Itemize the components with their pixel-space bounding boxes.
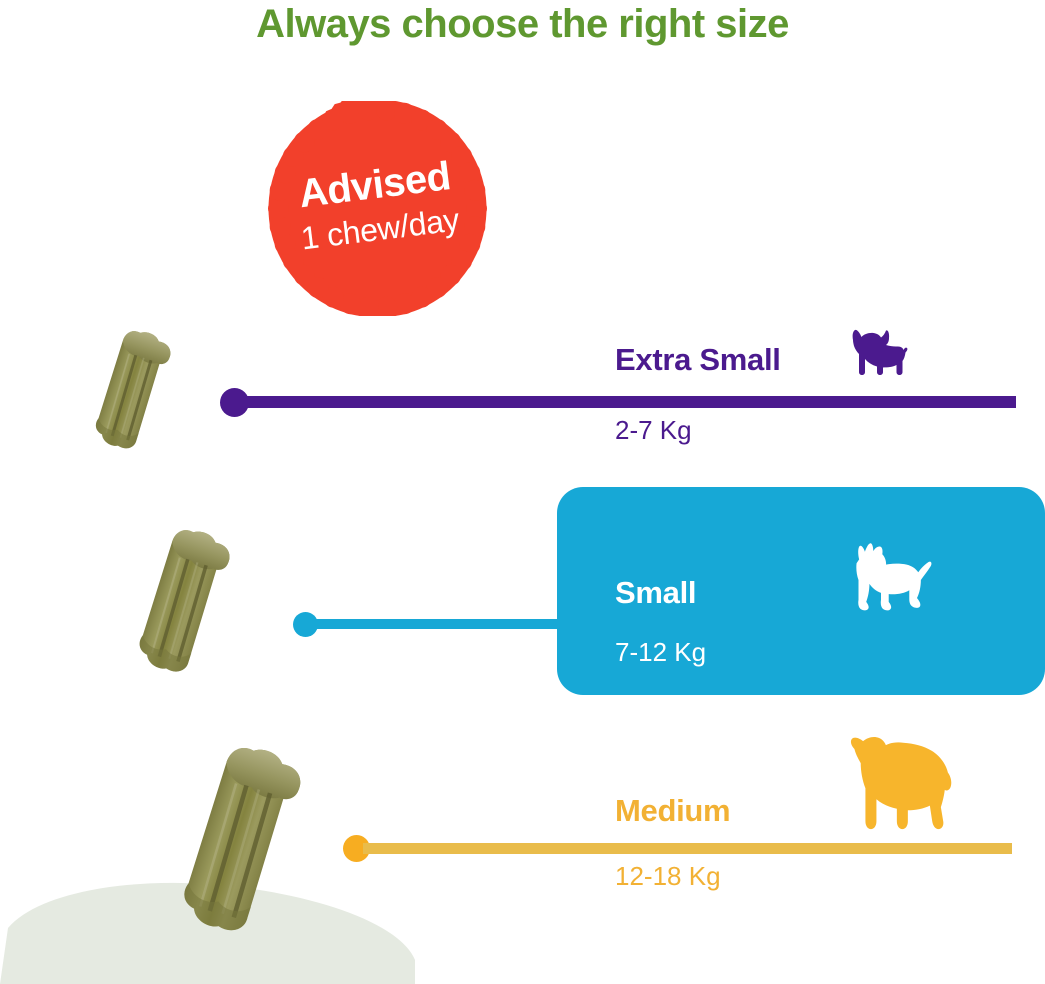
retriever-dog-icon (845, 730, 955, 834)
medium-size-label: Medium (615, 793, 730, 829)
size-row-medium[interactable]: Medium 12-18 Kg (0, 0, 1045, 984)
medium-connector-line (363, 843, 1012, 854)
medium-weight-label: 12-18 Kg (615, 861, 721, 892)
dog-chew-size-infographic: Always choose the right size Advised 1 c… (0, 0, 1045, 984)
